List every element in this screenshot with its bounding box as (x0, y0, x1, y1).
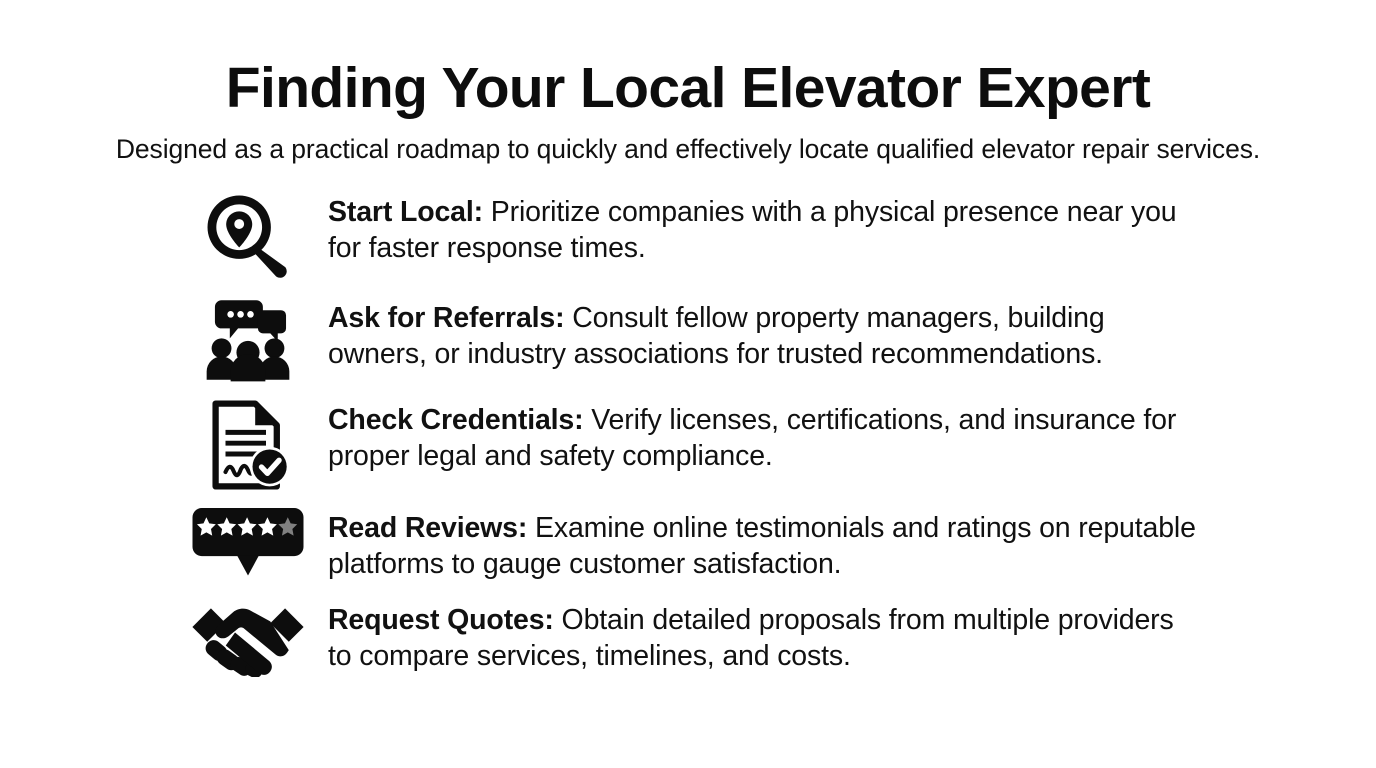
step-text: Read Reviews: Examine online testimonial… (328, 508, 1203, 582)
step-lead: Request Quotes: (328, 604, 554, 636)
list-item: Request Quotes: Obtain detailed proposal… (0, 600, 1376, 696)
list-item: Check Credentials: Verify licenses, cert… (0, 400, 1376, 508)
step-text: Request Quotes: Obtain detailed proposal… (328, 600, 1203, 674)
header: Finding Your Local Elevator Expert Desig… (0, 0, 1376, 166)
step-text: Check Credentials: Verify licenses, cert… (328, 400, 1203, 474)
list-item: Start Local: Prioritize companies with a… (0, 192, 1376, 298)
document-check-icon (168, 400, 328, 490)
star-rating-bubble-icon (168, 508, 328, 582)
step-lead: Start Local: (328, 196, 483, 228)
page-title: Finding Your Local Elevator Expert (0, 58, 1376, 118)
step-lead: Read Reviews: (328, 512, 527, 544)
location-search-icon (168, 192, 328, 280)
step-text: Start Local: Prioritize companies with a… (328, 192, 1203, 266)
step-lead: Check Credentials: (328, 404, 583, 436)
handshake-icon (168, 600, 328, 678)
step-lead: Ask for Referrals: (328, 302, 564, 334)
page-subtitle: Designed as a practical roadmap to quick… (0, 134, 1376, 166)
list-item: Ask for Referrals: Consult fellow proper… (0, 298, 1376, 400)
steps-list: Start Local: Prioritize companies with a… (0, 192, 1376, 696)
people-chat-icon (168, 298, 328, 382)
list-item: Read Reviews: Examine online testimonial… (0, 508, 1376, 600)
infographic-page: Finding Your Local Elevator Expert Desig… (0, 0, 1376, 768)
step-text: Ask for Referrals: Consult fellow proper… (328, 298, 1203, 372)
